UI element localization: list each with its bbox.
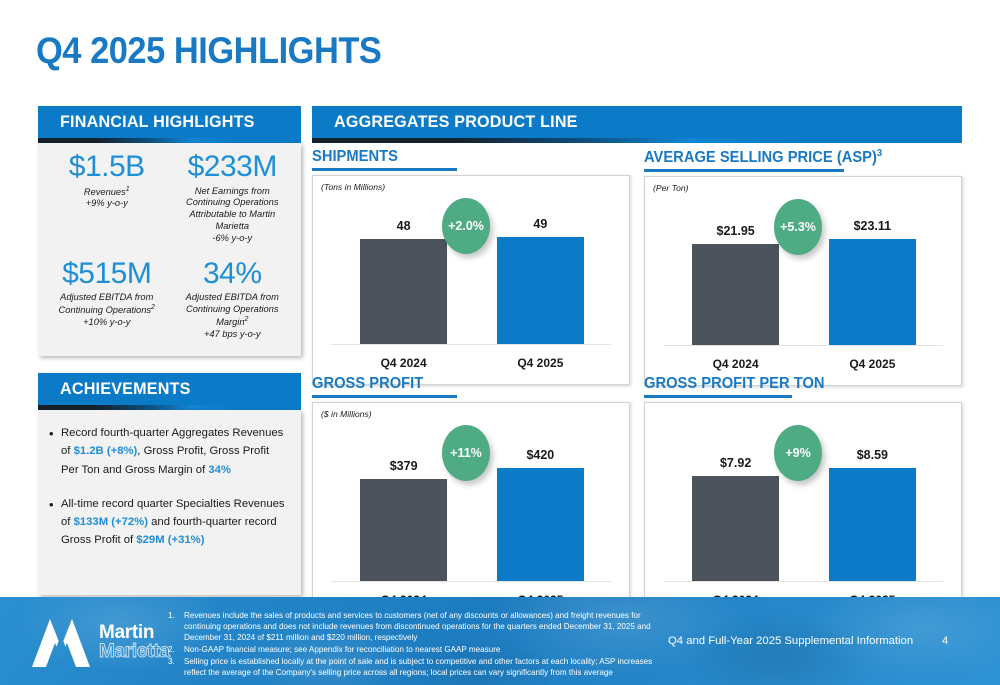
bar-value-label: 49	[480, 217, 600, 231]
chart-card-shipments: (Tons in Millions)48Q4 202449Q4 2025+2.0…	[312, 175, 630, 385]
chart-gross-profit: GROSS PROFIT($ in Millions)$379Q4 2024$4…	[312, 375, 630, 622]
category-label: Q4 2024	[676, 357, 796, 371]
footnote-text: Non-GAAP financial measure; see Appendix…	[184, 645, 500, 654]
kpi-1: $1.5BRevenues1+9% y-o-y	[44, 151, 170, 256]
bar-q4-2024	[692, 244, 779, 345]
financial-highlights-banner-label: FINANCIAL HIGHLIGHTS	[60, 112, 255, 132]
aggregates-product-line-banner-label: AGGREGATES PRODUCT LINE	[334, 112, 578, 132]
bar-value-label: $8.59	[812, 448, 932, 462]
chart-unit-note: (Tons in Millions)	[321, 182, 385, 192]
martin-marietta-logo: Martin Marietta	[30, 615, 169, 669]
kpi-label: Adjusted EBITDA from Continuing Operatio…	[170, 292, 296, 341]
chart-title-rule	[644, 395, 792, 398]
footnote: 1.Revenues include the sales of products…	[168, 610, 668, 643]
slide-footer: Martin Marietta 1.Revenues include the s…	[0, 597, 1000, 685]
achievements-panel: Record fourth-quarter Aggregates Revenue…	[38, 410, 301, 595]
category-label: Q4 2025	[480, 356, 600, 370]
footer-info-text: Q4 and Full-Year 2025 Supplemental Infor…	[668, 635, 913, 647]
growth-badge: +11%	[442, 425, 490, 481]
achievement-highlight: $133M (+72%)	[74, 516, 148, 528]
kpi-2: $233MNet Earnings from Continuing Operat…	[170, 151, 296, 256]
chart-title-shipments: SHIPMENTS	[312, 148, 614, 168]
category-label: Q4 2024	[344, 356, 464, 370]
chart-axis-line	[663, 345, 943, 346]
achievements-banner-label: ACHIEVEMENTS	[60, 379, 191, 399]
growth-badge: +2.0%	[442, 198, 490, 254]
footnote: 3.Selling price is established locally a…	[168, 656, 668, 678]
kpi-value: $1.5B	[69, 151, 145, 183]
kpi-grid: $1.5BRevenues1+9% y-o-y$233MNet Earnings…	[38, 143, 301, 356]
footnote: 2.Non-GAAP financial measure; see Append…	[168, 644, 668, 655]
kpi-value: $515M	[62, 258, 151, 290]
aggregates-product-line-banner: AGGREGATES PRODUCT LINE	[312, 106, 962, 143]
page-title: Q4 2025 HIGHLIGHTS	[36, 30, 381, 72]
category-label: Q4 2025	[812, 357, 932, 371]
logo-text-martin: Martin	[99, 623, 169, 642]
banner-gradient-rule	[312, 138, 962, 143]
chart-title-gross-profit-per-ton: GROSS PROFIT PER TON	[644, 375, 946, 395]
achievement-item: All-time record quarter Specialties Reve…	[48, 495, 289, 550]
financial-highlights-banner: FINANCIAL HIGHLIGHTS	[38, 106, 301, 143]
chart-title-rule	[312, 168, 457, 171]
slide: Q4 2025 HIGHLIGHTS FINANCIAL HIGHLIGHTS …	[0, 0, 1000, 685]
growth-badge: +5.3%	[774, 199, 822, 255]
chart-axis-line	[331, 581, 611, 582]
achievements-list: Record fourth-quarter Aggregates Revenue…	[38, 410, 301, 550]
achievement-highlight: $29M (+31%)	[136, 534, 204, 546]
achievements-banner: ACHIEVEMENTS	[38, 373, 301, 410]
chart-axis-line	[663, 581, 943, 582]
bar-q4-2024	[692, 476, 779, 581]
kpi-label: Revenues1+9% y-o-y	[80, 186, 134, 211]
chart-gross-profit-per-ton: GROSS PROFIT PER TON$7.92Q4 2024$8.59Q4 …	[644, 375, 962, 622]
chart-axis-line	[331, 344, 611, 345]
achievement-item: Record fourth-quarter Aggregates Revenue…	[48, 424, 289, 479]
footnote-number: 3.	[168, 656, 175, 667]
kpi-value: 34%	[203, 258, 262, 290]
chart-title-rule	[644, 169, 844, 172]
footnote-text: Revenues include the sales of products a…	[184, 611, 651, 642]
chart-asp: AVERAGE SELLING PRICE (ASP)3(Per Ton)$21…	[644, 148, 962, 386]
chart-card-gross-profit: ($ in Millions)$379Q4 2024$420Q4 2025+11…	[312, 402, 630, 622]
kpi-4: 34%Adjusted EBITDA from Continuing Opera…	[170, 258, 296, 352]
bar-q4-2024	[360, 479, 447, 581]
bar-value-label: $420	[480, 448, 600, 462]
kpi-3: $515MAdjusted EBITDA from Continuing Ope…	[44, 258, 170, 352]
kpi-label: Net Earnings from Continuing Operations …	[170, 186, 296, 245]
chart-card-asp: (Per Ton)$21.95Q4 2024$23.11Q4 2025+5.3%	[644, 176, 962, 386]
bar-value-label: $23.11	[812, 219, 932, 233]
chart-card-gross-profit-per-ton: $7.92Q4 2024$8.59Q4 2025+9%	[644, 402, 962, 622]
bar-q4-2025	[497, 468, 584, 581]
bar-q4-2025	[497, 237, 584, 344]
footnote-text: Selling price is established locally at …	[184, 657, 652, 677]
bar-q4-2025	[829, 239, 916, 345]
chart-title-gross-profit: GROSS PROFIT	[312, 375, 614, 395]
chart-unit-note: ($ in Millions)	[321, 409, 372, 419]
bar-q4-2025	[829, 468, 916, 581]
logo-text-marietta: Marietta	[99, 642, 169, 661]
chart-unit-note: (Per Ton)	[653, 183, 689, 193]
kpi-value: $233M	[188, 151, 277, 183]
achievement-highlight: 34%	[208, 464, 231, 476]
kpi-label: Adjusted EBITDA from Continuing Operatio…	[44, 292, 170, 329]
bar-q4-2024	[360, 239, 447, 344]
chart-shipments: SHIPMENTS(Tons in Millions)48Q4 202449Q4…	[312, 148, 630, 385]
chart-title-rule	[312, 395, 457, 398]
achievement-highlight: $1.2B (+8%)	[74, 445, 138, 457]
page-number: 4	[942, 635, 948, 647]
footnote-number: 1.	[168, 610, 175, 621]
growth-badge: +9%	[774, 425, 822, 481]
financial-highlights-panel: $1.5BRevenues1+9% y-o-y$233MNet Earnings…	[38, 143, 301, 356]
footnotes-list: 1.Revenues include the sales of products…	[168, 610, 668, 679]
footnote-number: 2.	[168, 644, 175, 655]
mountain-logo-icon	[30, 615, 92, 669]
chart-title-asp: AVERAGE SELLING PRICE (ASP)3	[644, 148, 946, 169]
